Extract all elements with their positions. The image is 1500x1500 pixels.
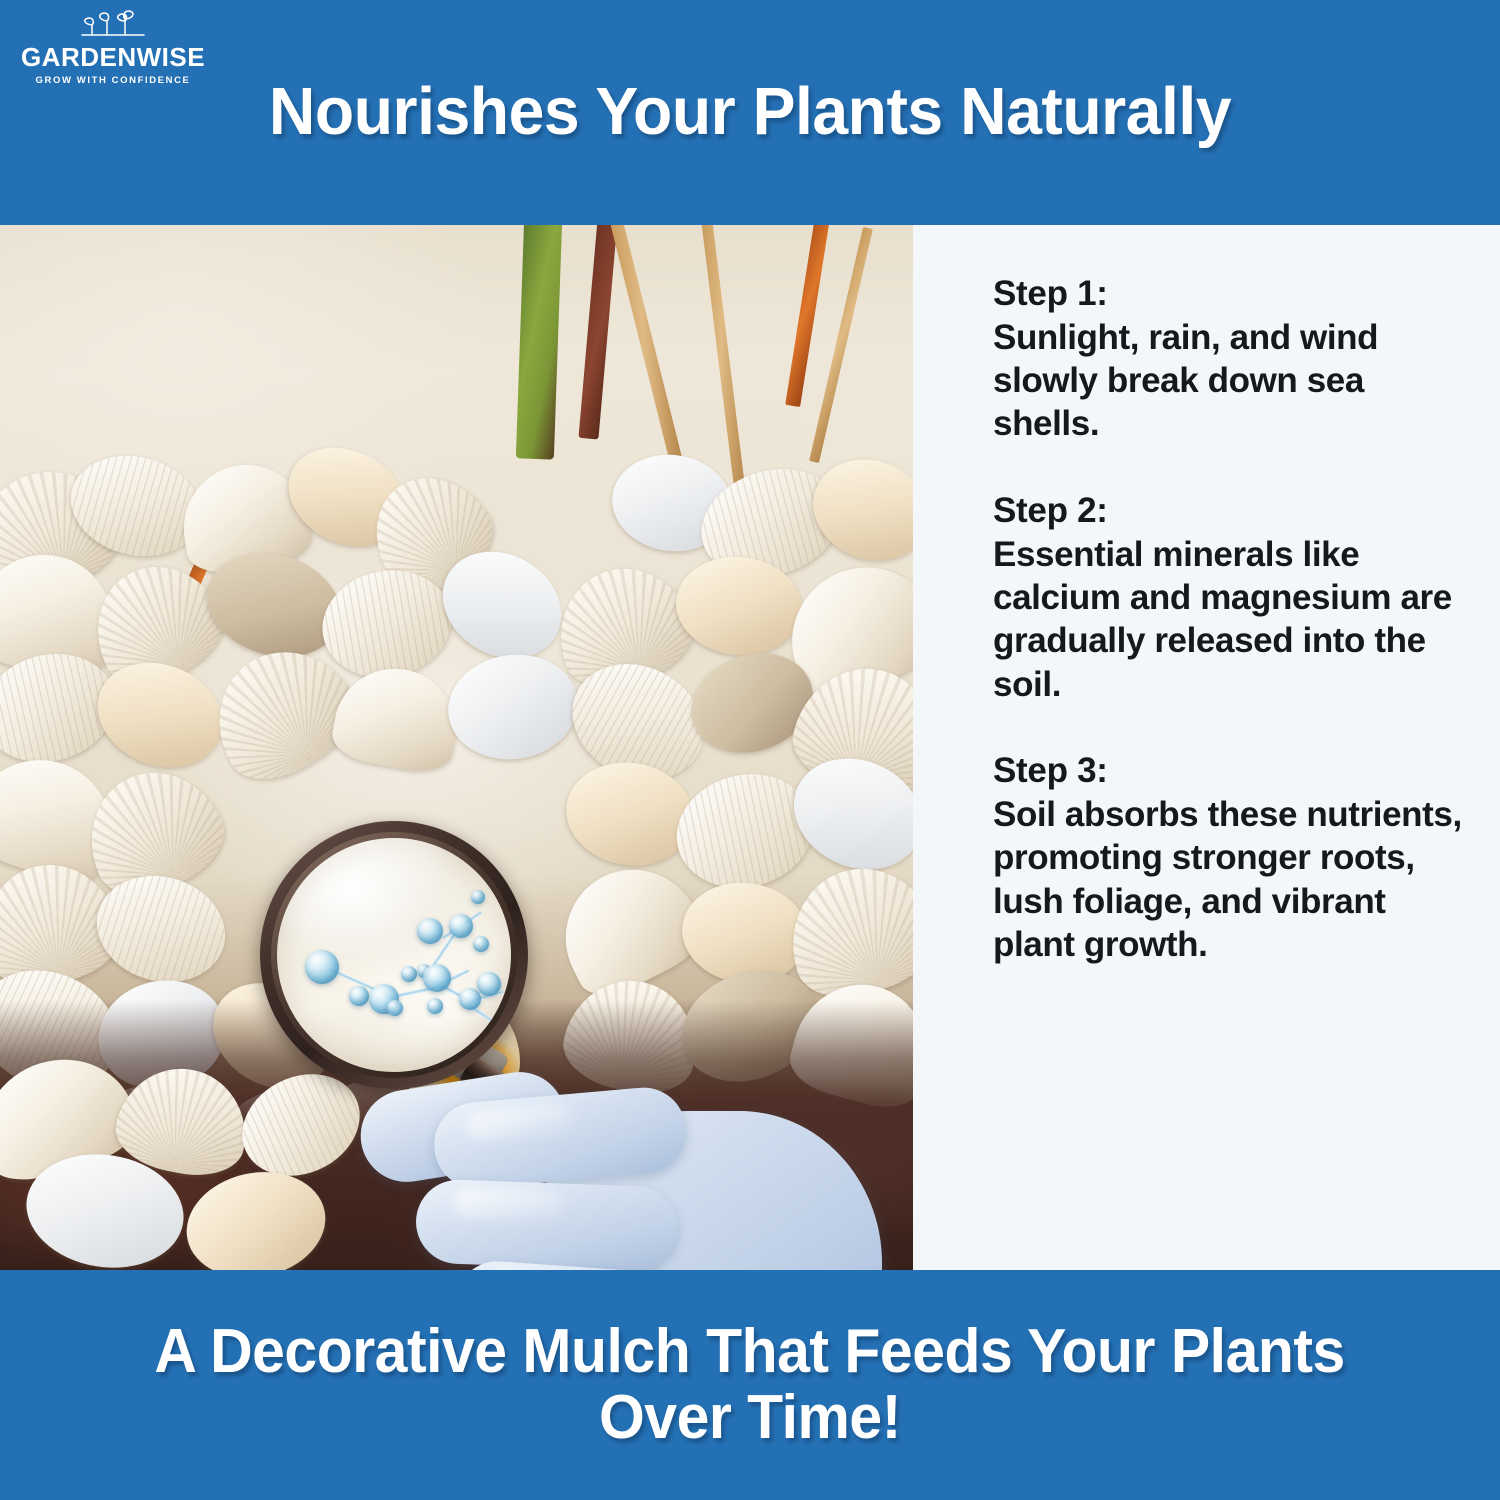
molecule-atom [417, 918, 443, 944]
molecule-atom [423, 964, 451, 992]
molecule-atom [401, 966, 417, 982]
brand-name: GARDENWISE [18, 44, 208, 70]
molecule-atom [459, 988, 481, 1010]
molecule-atom [387, 1000, 403, 1016]
molecule-atom [427, 998, 443, 1014]
molecule-atom [471, 890, 485, 904]
step-label: Step 3: [993, 750, 1472, 793]
step-label: Step 1: [993, 273, 1472, 316]
headline: Nourishes Your Plants Naturally [30, 78, 1470, 145]
step-item: Step 3: Soil absorbs these nutrients, pr… [993, 750, 1472, 966]
glove-finger [415, 1178, 680, 1270]
top-banner: GARDENWISE GROW WITH CONFIDENCE Nourishe… [0, 0, 1500, 225]
middle-section: Step 1: Sunlight, rain, and wind slowly … [0, 225, 1500, 1270]
magnifier-lens [277, 838, 511, 1072]
step-label: Step 2: [993, 490, 1472, 533]
step-body: Soil absorbs these nutrients, promoting … [993, 793, 1472, 967]
step-item: Step 2: Essential minerals like calcium … [993, 490, 1472, 706]
infographic-poster: GARDENWISE GROW WITH CONFIDENCE Nourishe… [0, 0, 1500, 1500]
brand-logo: GARDENWISE GROW WITH CONFIDENCE [18, 8, 208, 86]
magnifying-glass [260, 821, 528, 1089]
magnifier-ring [260, 821, 528, 1089]
product-photo [0, 225, 913, 1270]
footer-line-1: A Decorative Mulch That Feeds Your Plant… [155, 1319, 1345, 1385]
bottom-banner: A Decorative Mulch That Feeds Your Plant… [0, 1270, 1500, 1500]
mineral-molecule-diagram [277, 838, 511, 1072]
step-body: Essential minerals like calcium and magn… [993, 533, 1472, 707]
step-body: Sunlight, rain, and wind slowly break do… [993, 316, 1472, 446]
step-item: Step 1: Sunlight, rain, and wind slowly … [993, 273, 1472, 446]
footer-line-2: Over Time! [599, 1385, 901, 1451]
molecule-atom [349, 986, 369, 1006]
molecule-atom [473, 936, 489, 952]
sprouting-seedlings-icon [70, 8, 156, 42]
steps-panel: Step 1: Sunlight, rain, and wind slowly … [913, 225, 1500, 1270]
gloved-hand [330, 1075, 890, 1270]
molecule-atom [449, 914, 473, 938]
molecule-atom [477, 972, 501, 996]
molecule-atom [305, 950, 339, 984]
